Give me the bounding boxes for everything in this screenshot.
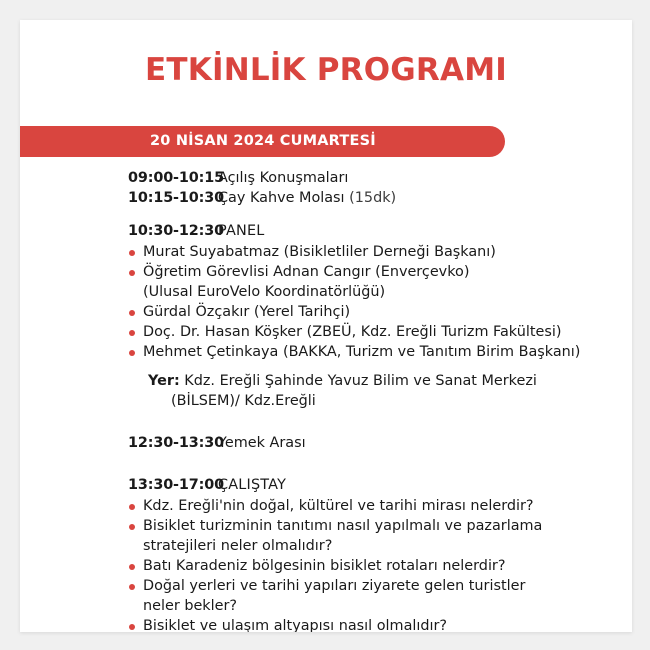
divider-spacer xyxy=(128,466,608,475)
bullet-dot-icon xyxy=(129,504,135,510)
list-item-line1: Öğretim Görevlisi Adnan Cangır (Enverçev… xyxy=(143,264,469,280)
session-lunch: 12:30-13:30 Yemek Arası xyxy=(128,433,608,453)
session-description: Yemek Arası xyxy=(218,433,306,453)
session-description: Çay Kahve Molası (15dk) xyxy=(218,188,396,208)
list-item: Öğretim Görevlisi Adnan Cangır (Enverçev… xyxy=(128,262,608,302)
divider-spacer xyxy=(128,453,608,466)
bullet-dot-icon xyxy=(129,250,135,256)
list-item-line1: Batı Karadeniz bölgesinin bisiklet rotal… xyxy=(143,558,506,574)
schedule-row-coffee: 10:15-10:30 Çay Kahve Molası (15dk) xyxy=(128,188,608,208)
venue-line2: (BİLSEM)/ Kdz.Ereğli xyxy=(148,391,608,411)
list-item-line1: Bisiklet ve ulaşım altyapısı nasıl olmal… xyxy=(143,618,447,632)
workshop-question-list: Kdz. Ereğli'nin doğal, kültürel ve tarih… xyxy=(128,496,608,632)
divider-spacer xyxy=(128,208,608,221)
program-body: 09:00-10:15 Açılış Konuşmaları 10:15-10:… xyxy=(128,168,608,632)
time-label: 13:30-17:00 xyxy=(128,475,218,495)
session-description-text: Çay Kahve Molası xyxy=(218,190,349,206)
time-label: 09:00-10:15 xyxy=(128,168,218,188)
schedule-row-lunch: 12:30-13:30 Yemek Arası xyxy=(128,433,608,453)
bullet-dot-icon xyxy=(129,564,135,570)
poster-card: ETKİNLİK PROGRAMI 20 NİSAN 2024 CUMARTES… xyxy=(20,20,632,632)
time-label: 12:30-13:30 xyxy=(128,433,218,453)
list-item: Kdz. Ereğli'nin doğal, kültürel ve tarih… xyxy=(128,496,608,516)
list-item-line1: Bisiklet turizminin tanıtımı nasıl yapıl… xyxy=(143,518,542,534)
bullet-dot-icon xyxy=(129,330,135,336)
list-item-line2: neler bekler? xyxy=(143,596,608,616)
page-title: ETKİNLİK PROGRAMI xyxy=(20,55,632,86)
session-description: Açılış Konuşmaları xyxy=(218,168,348,188)
schedule-row-opening: 09:00-10:15 Açılış Konuşmaları xyxy=(128,168,608,188)
date-banner-label: 20 NİSAN 2024 CUMARTESİ xyxy=(150,126,376,157)
list-item: Bisiklet turizminin tanıtımı nasıl yapıl… xyxy=(128,516,608,556)
list-item-line1: Murat Suyabatmaz (Bisikletliler Derneği … xyxy=(143,244,496,260)
bullet-dot-icon xyxy=(129,524,135,530)
list-item-line2: (Ulusal EuroVelo Koordinatörlüğü) xyxy=(143,282,608,302)
list-item: Murat Suyabatmaz (Bisikletliler Derneği … xyxy=(128,242,608,262)
time-label: 10:15-10:30 xyxy=(128,188,218,208)
list-item-line1: Doç. Dr. Hasan Köşker (ZBEÜ, Kdz. Ereğli… xyxy=(143,324,561,340)
list-item: Doğal yerleri ve tarihi yapıları ziyaret… xyxy=(128,576,608,616)
list-item: Mehmet Çetinkaya (BAKKA, Turizm ve Tanıt… xyxy=(128,342,608,362)
list-item: Doç. Dr. Hasan Köşker (ZBEÜ, Kdz. Ereğli… xyxy=(128,322,608,342)
schedule-row-workshop: 13:30-17:00 ÇALIŞTAY xyxy=(128,475,608,495)
list-item-line1: Kdz. Ereğli'nin doğal, kültürel ve tarih… xyxy=(143,498,534,514)
list-item: Bisiklet ve ulaşım altyapısı nasıl olmal… xyxy=(128,616,608,632)
bullet-dot-icon xyxy=(129,350,135,356)
time-label: 10:30-12:30 xyxy=(128,221,218,241)
list-item-line1: Gürdal Özçakır (Yerel Tarihçi) xyxy=(143,304,350,320)
schedule-row-panel: 10:30-12:30 PANEL xyxy=(128,221,608,241)
list-item-line1: Mehmet Çetinkaya (BAKKA, Turizm ve Tanıt… xyxy=(143,344,580,360)
session-panel: 10:30-12:30 PANEL Murat Suyabatmaz (Bisi… xyxy=(128,221,608,411)
divider-spacer xyxy=(128,424,608,433)
list-item-line2: stratejileri neler olmalıdır? xyxy=(143,536,608,556)
panel-venue: Yer: Kdz. Ereğli Şahinde Yavuz Bilim ve … xyxy=(128,371,608,411)
date-banner: 20 NİSAN 2024 CUMARTESİ xyxy=(20,126,505,157)
venue-label: Yer: xyxy=(148,373,180,389)
venue-line1: Kdz. Ereğli Şahinde Yavuz Bilim ve Sanat… xyxy=(180,373,537,389)
list-item-line1: Doğal yerleri ve tarihi yapıları ziyaret… xyxy=(143,578,525,594)
panel-speaker-list: Murat Suyabatmaz (Bisikletliler Derneği … xyxy=(128,242,608,362)
bullet-dot-icon xyxy=(129,584,135,590)
bullet-dot-icon xyxy=(129,310,135,316)
session-duration-note: (15dk) xyxy=(349,190,396,206)
bullet-dot-icon xyxy=(129,624,135,630)
list-item: Batı Karadeniz bölgesinin bisiklet rotal… xyxy=(128,556,608,576)
list-item: Gürdal Özçakır (Yerel Tarihçi) xyxy=(128,302,608,322)
session-opening: 09:00-10:15 Açılış Konuşmaları 10:15-10:… xyxy=(128,168,608,208)
divider-spacer xyxy=(128,362,608,371)
session-name: ÇALIŞTAY xyxy=(218,475,286,495)
bullet-dot-icon xyxy=(129,270,135,276)
session-name: PANEL xyxy=(218,221,264,241)
divider-spacer xyxy=(128,411,608,424)
session-workshop: 13:30-17:00 ÇALIŞTAY Kdz. Ereğli'nin doğ… xyxy=(128,475,608,632)
